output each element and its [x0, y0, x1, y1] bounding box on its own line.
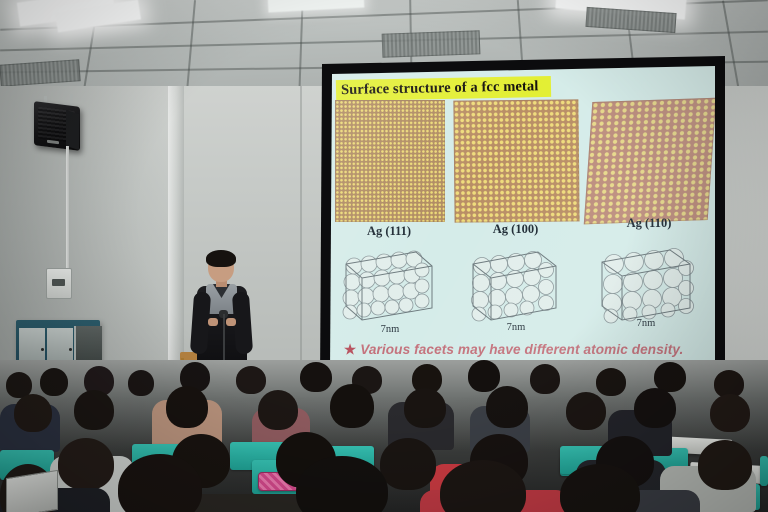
audience-head	[596, 368, 626, 396]
ceiling-vent-tile	[382, 30, 481, 57]
audience-head	[698, 440, 752, 490]
audience-head	[74, 390, 114, 430]
panel-label-ag110: Ag (110)	[588, 216, 710, 231]
audience-head	[300, 362, 332, 392]
stm-image-ag110	[584, 98, 715, 225]
auditorium-seat	[760, 456, 768, 486]
laptop[interactable]	[6, 470, 58, 512]
audience-head	[14, 394, 52, 432]
wall-conduit	[66, 146, 69, 272]
presenter-hair	[206, 250, 236, 267]
stm-image-ag100	[453, 99, 579, 222]
audience-head	[530, 364, 560, 394]
ceiling-vent-tile	[0, 59, 81, 87]
audience-head	[380, 438, 436, 490]
audience-head	[258, 390, 298, 430]
ball-model-ag111	[342, 246, 438, 324]
presenter-hand-left	[208, 318, 218, 326]
speaker-side	[66, 110, 79, 150]
audience-head	[486, 386, 528, 428]
audience-head	[40, 368, 68, 396]
scale-label-ag100: 7nm	[468, 322, 564, 333]
ball-model-ag110	[598, 246, 694, 324]
projected-slide: Surface structure of a fcc metal Ag (111…	[330, 66, 715, 374]
audience-head	[566, 392, 606, 430]
audience-head	[58, 438, 114, 490]
audience-head	[710, 394, 750, 432]
presenter-hand-right	[226, 318, 236, 326]
slide-title: Surface structure of a fcc metal	[341, 76, 556, 101]
scale-label-ag111: 7nm	[342, 324, 438, 335]
stm-image-ag111	[335, 100, 445, 222]
speaker-badge	[47, 140, 59, 144]
panel-label-ag100: Ag (100)	[454, 222, 577, 237]
ceiling-light-panel	[268, 0, 365, 13]
audience-area	[0, 360, 768, 512]
panel-label-ag111: Ag (111)	[335, 224, 443, 239]
audience-head	[634, 388, 676, 428]
audience-head	[330, 384, 374, 428]
audience-head	[404, 388, 446, 428]
wall-power-outlet	[46, 268, 72, 299]
ball-model-ag100	[468, 246, 564, 324]
slide-footnote-text: Various facets may have different atomic…	[360, 342, 683, 357]
audience-head	[166, 386, 208, 428]
star-icon: ★	[344, 342, 356, 357]
audience-head	[468, 360, 500, 392]
lecture-hall-photo: Surface structure of a fcc metal Ag (111…	[0, 0, 768, 512]
slide-footnote: ★ Various facets may have different atom…	[344, 342, 709, 358]
audience-head	[236, 366, 266, 394]
outlet-slot	[52, 279, 65, 286]
scale-label-ag110: 7nm	[598, 318, 694, 329]
audience-head	[128, 370, 154, 396]
wall-pilaster	[168, 86, 184, 386]
